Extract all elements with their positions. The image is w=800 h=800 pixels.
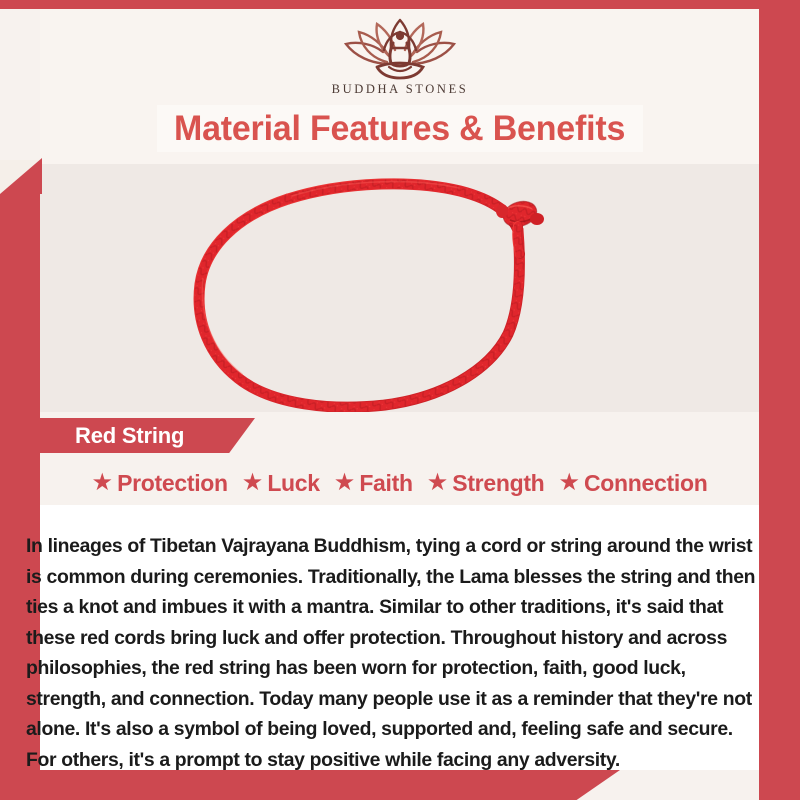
lotus-meditation-figure-icon — [325, 12, 475, 80]
feature-item-luck: ★ Luck — [242, 470, 320, 497]
feature-item-faith: ★ Faith — [334, 470, 413, 497]
star-icon: ★ — [334, 471, 356, 495]
star-icon: ★ — [242, 471, 264, 495]
ribbon-label: Red String — [40, 423, 184, 449]
feature-item-strength: ★ Strength — [427, 470, 545, 497]
feature-item-protection: ★ Protection — [92, 470, 228, 497]
feature-label: Connection — [584, 470, 708, 497]
feature-label: Faith — [359, 470, 412, 497]
star-icon: ★ — [558, 471, 580, 495]
feature-label: Luck — [267, 470, 319, 497]
product-ribbon: Red String — [40, 418, 255, 453]
feature-label: Protection — [117, 470, 228, 497]
feature-item-connection: ★ Connection — [558, 470, 707, 497]
brand-name: BUDDHA STONES — [0, 82, 800, 97]
brand-logo: BUDDHA STONES — [0, 12, 800, 97]
star-icon: ★ — [427, 471, 449, 495]
frame-top-border — [0, 0, 800, 9]
feature-list: ★ Protection ★ Luck ★ Faith ★ Strength ★… — [40, 466, 759, 500]
page-title: Material Features & Benefits — [174, 109, 625, 149]
infographic-card: BUDDHA STONES Material Features & Benefi… — [0, 0, 800, 800]
title-banner: Material Features & Benefits — [157, 105, 643, 152]
feature-label: Strength — [452, 470, 544, 497]
description-text: In lineages of Tibetan Vajrayana Buddhis… — [26, 531, 768, 775]
cord-knot — [496, 197, 544, 254]
product-image-red-cord-bracelet — [40, 164, 759, 412]
star-icon: ★ — [92, 471, 114, 495]
